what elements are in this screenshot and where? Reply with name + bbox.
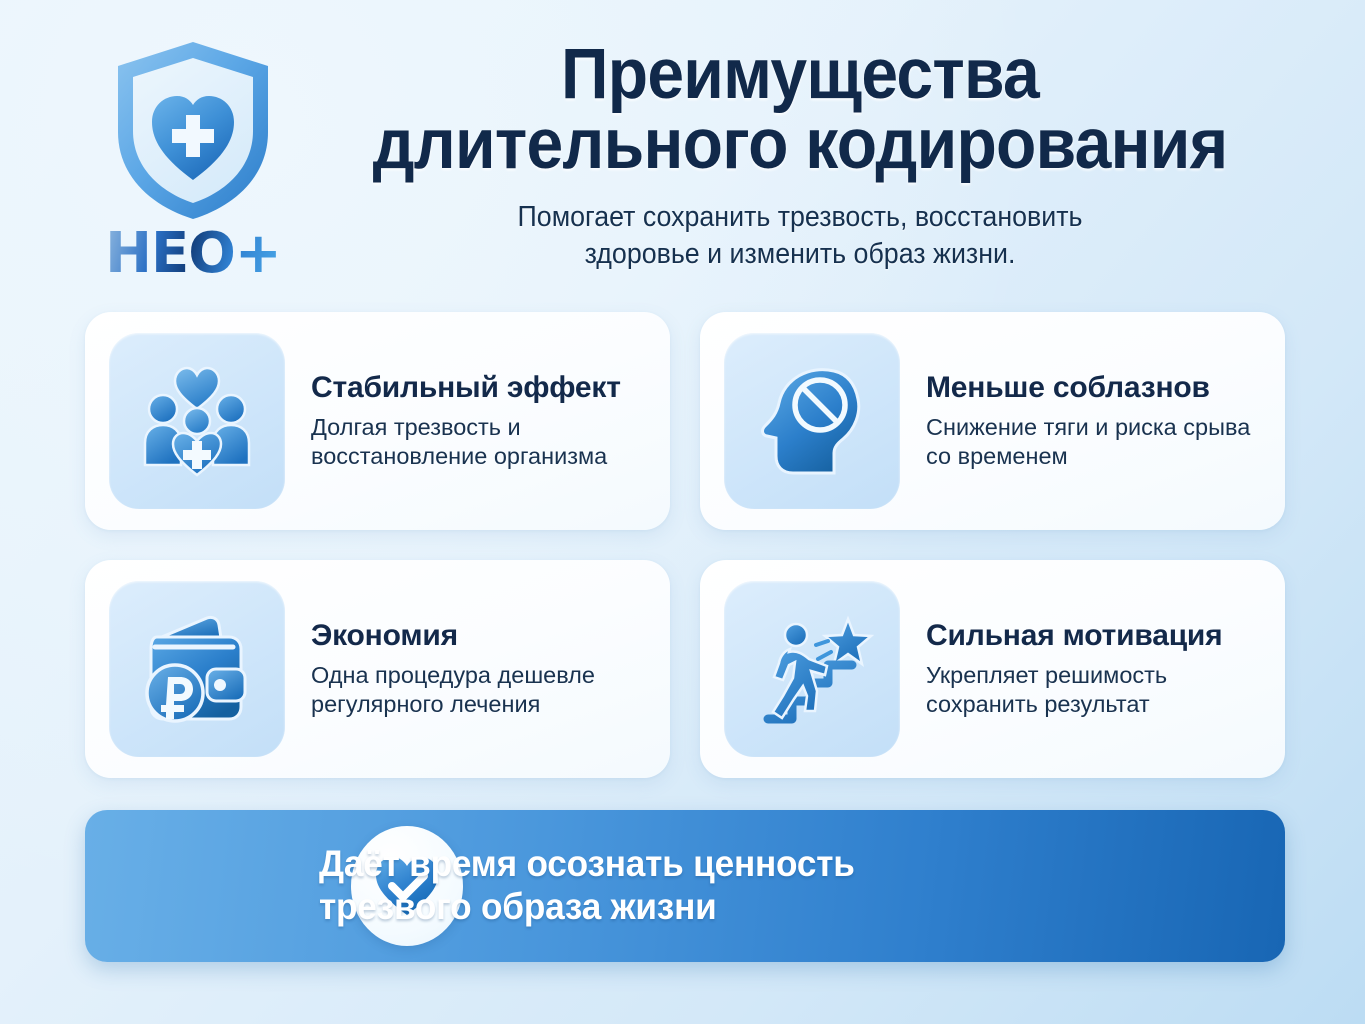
card-text: Стабильный эффект Долгая трезвость и вос… [285, 371, 646, 471]
page-title: Преимущества длительного кодирования [335, 40, 1265, 181]
icon-tile [109, 333, 285, 509]
icon-tile [109, 581, 285, 757]
wallet-ruble-icon [133, 605, 261, 733]
card-description: Укрепляет решимость сохранить результат [926, 661, 1255, 719]
card-title: Сильная мотивация [926, 619, 1255, 653]
headline-block: Преимущества длительного кодирования Пом… [300, 40, 1300, 274]
page-title-line-1: Преимущества [561, 35, 1039, 114]
card-description: Одна процедура дешевле регулярного лечен… [311, 661, 640, 719]
brand-lockup: HEO+ [78, 36, 308, 291]
benefit-card: Экономия Одна процедура дешевле регулярн… [85, 560, 670, 778]
benefit-card: Стабильный эффект Долгая трезвость и вос… [85, 312, 670, 530]
card-text: Экономия Одна процедура дешевле регулярн… [285, 619, 646, 719]
card-text: Сильная мотивация Укрепляет решимость со… [900, 619, 1261, 719]
header: HEO+ Преимущества длительного кодировани… [0, 0, 1365, 300]
infographic-poster: HEO+ Преимущества длительного кодировани… [0, 0, 1365, 1024]
page-subtitle: Помогает сохранить трезвость, восстанови… [330, 199, 1270, 275]
banner-text-line-2: трезвого образа жизни [319, 886, 717, 927]
family-heart-plus-icon [133, 357, 261, 485]
card-title: Меньше соблазнов [926, 371, 1255, 405]
card-text: Меньше соблазнов Снижение тяги и риска с… [900, 371, 1261, 471]
card-title: Стабильный эффект [311, 371, 640, 405]
benefit-card: Сильная мотивация Укрепляет решимость со… [700, 560, 1285, 778]
wordmark: HEO+ [105, 226, 281, 282]
page-title-line-2: длительного кодирования [373, 105, 1228, 184]
stairs-star-runner-icon [748, 605, 876, 733]
head-prohibition-icon [748, 357, 876, 485]
banner-text-line-1: Даёт время осознать ценность [319, 843, 855, 884]
card-description: Долгая трезвость и восстановление органи… [311, 413, 640, 471]
shield-heart-plus-icon [108, 36, 278, 224]
page-subtitle-line-2: здоровье и изменить образ жизни. [585, 238, 1016, 270]
icon-tile [724, 333, 900, 509]
benefit-card: Меньше соблазнов Снижение тяги и риска с… [700, 312, 1285, 530]
card-description: Снижение тяги и риска срыва со временем [926, 413, 1255, 471]
benefit-card-grid: Стабильный эффект Долгая трезвость и вос… [85, 312, 1285, 778]
page-subtitle-line-1: Помогает сохранить трезвость, восстанови… [518, 201, 1083, 233]
card-title: Экономия [311, 619, 640, 653]
banner-text: Даёт время осознать ценность трезвого об… [319, 843, 855, 929]
footer-banner: Даёт время осознать ценность трезвого об… [85, 810, 1285, 962]
icon-tile [724, 581, 900, 757]
